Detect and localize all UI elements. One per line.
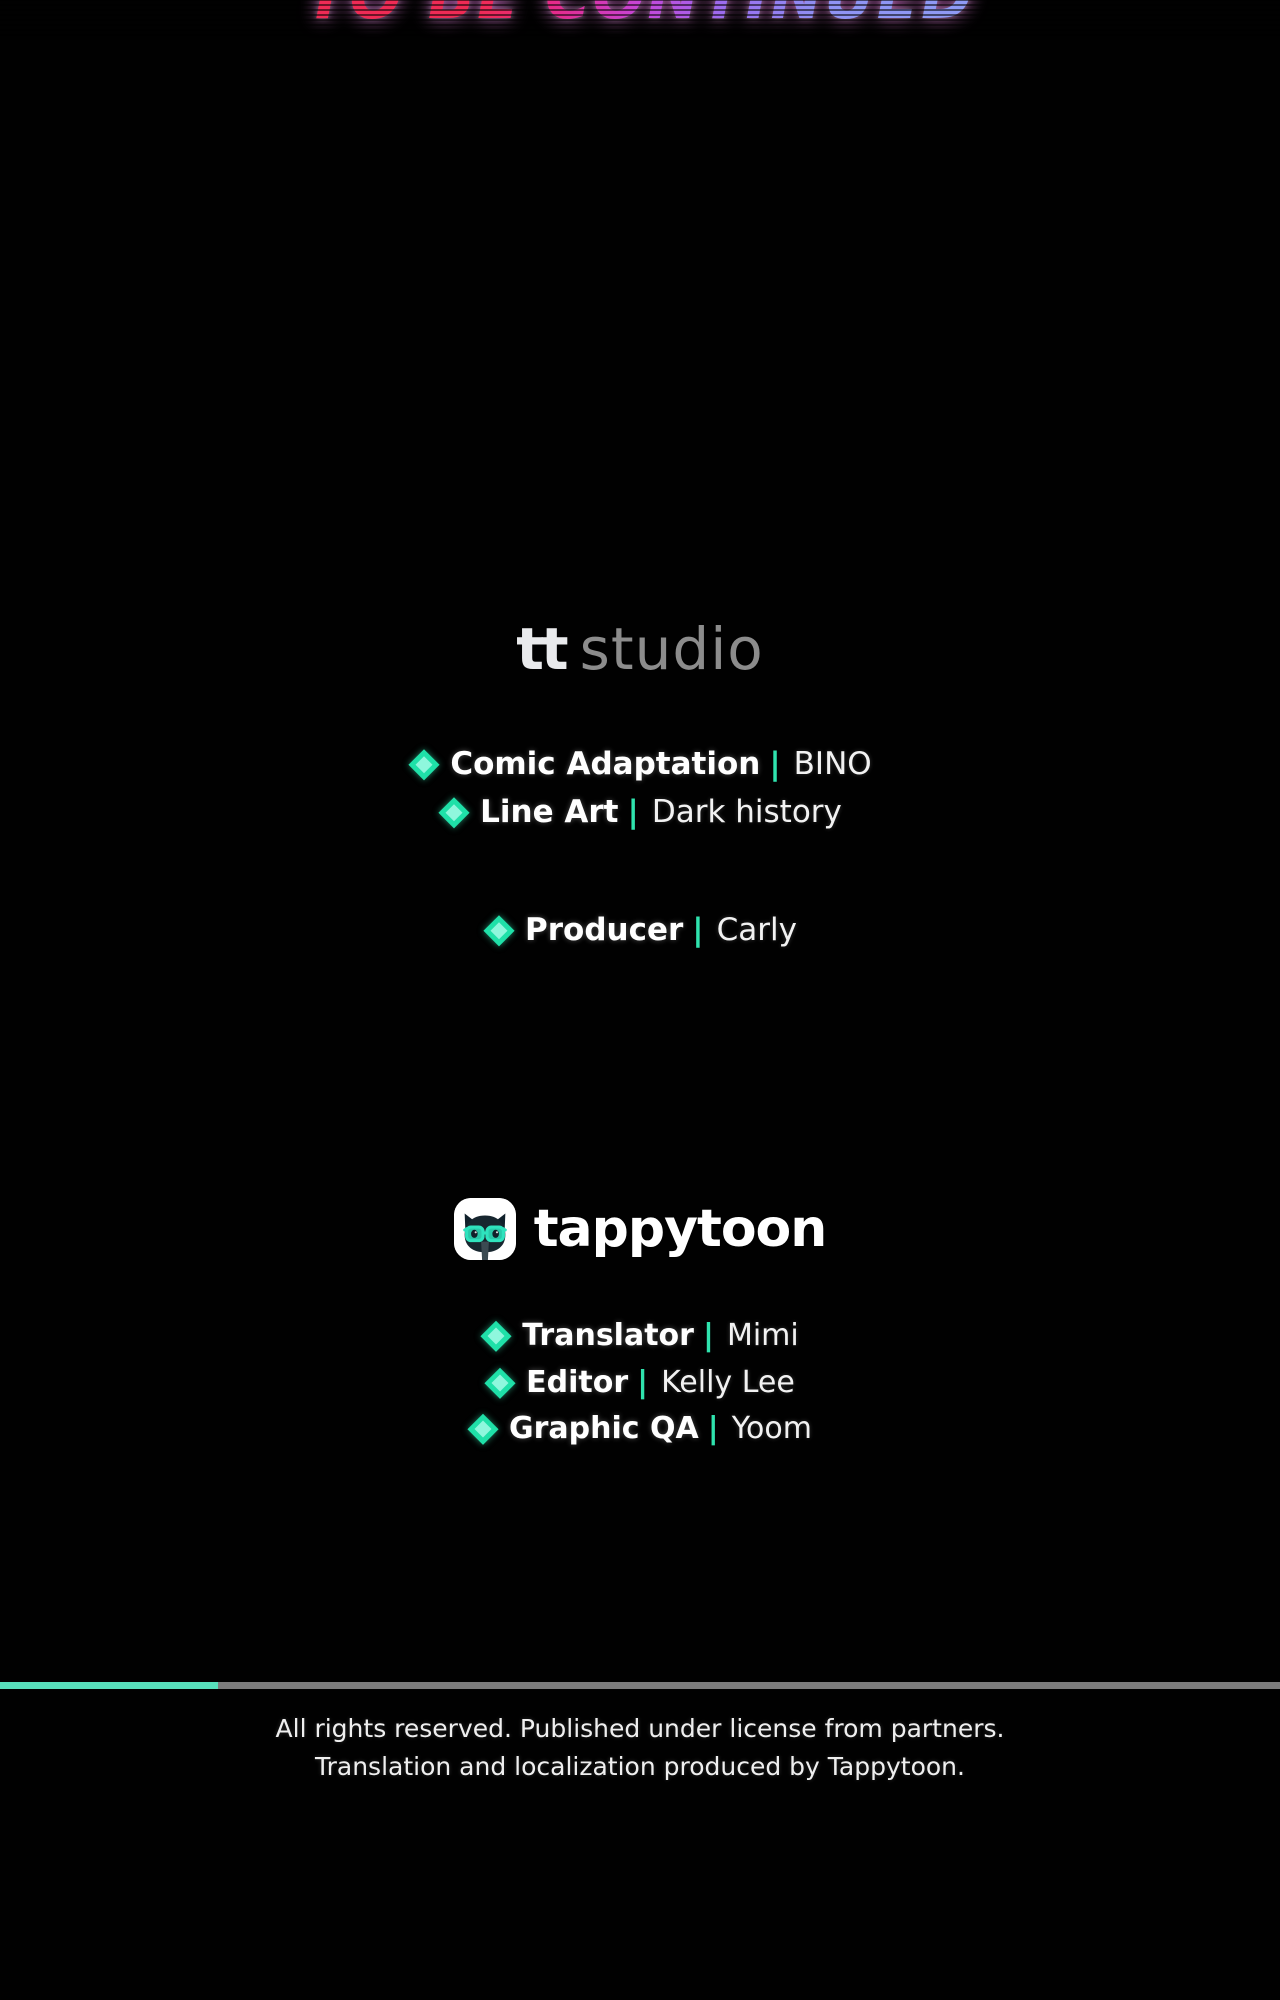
credits-page: TO BE CONTINUED ttstudio Comic Adaptatio… [0, 0, 1280, 2000]
footer-legal-line-2: Translation and localization produced by… [0, 1748, 1280, 1786]
credit-role-label: Comic Adaptation [450, 744, 760, 786]
credit-row-comic-adaptation: Comic Adaptation | BINO [0, 744, 1280, 786]
credit-separator: | [769, 744, 780, 786]
reading-progress-bar[interactable] [0, 1682, 1280, 1689]
credit-row-editor: Editor | Kelly Lee [0, 1363, 1280, 1404]
diamond-bullet-icon [438, 797, 469, 828]
tappytoon-wordmark: tappytoon [534, 1203, 827, 1255]
credit-row-producer: Producer | Carly [0, 910, 1280, 952]
tappytoon-logo-row: tappytoon [0, 1198, 1280, 1260]
credit-role-label: Line Art [480, 792, 618, 834]
to-be-continued-banner: TO BE CONTINUED [0, 0, 1280, 38]
tappytoon-logo: tappytoon [0, 1198, 1280, 1260]
credit-separator: | [703, 1316, 714, 1357]
tappytoon-credits: Translator | Mimi Editor | Kelly Lee Gra… [0, 1316, 1280, 1450]
to-be-continued-text: TO BE CONTINUED [305, 0, 974, 33]
credit-row-translator: Translator | Mimi [0, 1316, 1280, 1357]
diamond-bullet-icon [481, 1321, 511, 1351]
credit-row-line-art: Line Art | Dark history [0, 792, 1280, 834]
reading-progress-fill [0, 1682, 218, 1689]
credit-row-graphic-qa: Graphic QA | Yoom [0, 1409, 1280, 1450]
diamond-bullet-icon [483, 915, 514, 946]
tt-mark-text: tt [516, 615, 565, 683]
tt-studio-wordmark: ttstudio [0, 620, 1280, 678]
credit-person-name: Dark history [652, 792, 842, 834]
credit-role-label: Producer [525, 910, 683, 952]
credit-person-name: Kelly Lee [661, 1363, 795, 1404]
tt-studio-logo: ttstudio [0, 620, 1280, 678]
tt-studio-credits: Comic Adaptation | BINO Line Art | Dark … [0, 744, 1280, 834]
tappytoon-cat-icon [454, 1198, 516, 1260]
credit-separator: | [628, 792, 639, 834]
diamond-bullet-icon [468, 1414, 498, 1444]
credit-role-label: Graphic QA [509, 1409, 699, 1450]
credit-role-label: Translator [522, 1316, 694, 1357]
credit-separator: | [708, 1409, 719, 1450]
diamond-bullet-icon [485, 1368, 515, 1398]
tt-studio-word: studio [580, 615, 764, 683]
diamond-bullet-icon [408, 749, 439, 780]
credit-role-label: Editor [526, 1363, 628, 1404]
credit-person-name: Carly [717, 910, 797, 952]
credit-person-name: Mimi [727, 1316, 799, 1357]
credit-separator: | [692, 910, 703, 952]
footer-legal-line-1: All rights reserved. Published under lic… [0, 1710, 1280, 1748]
credit-separator: | [637, 1363, 648, 1404]
credit-person-name: Yoom [732, 1409, 812, 1450]
credit-person-name: BINO [794, 744, 872, 786]
tt-studio-producer-credits: Producer | Carly [0, 910, 1280, 952]
